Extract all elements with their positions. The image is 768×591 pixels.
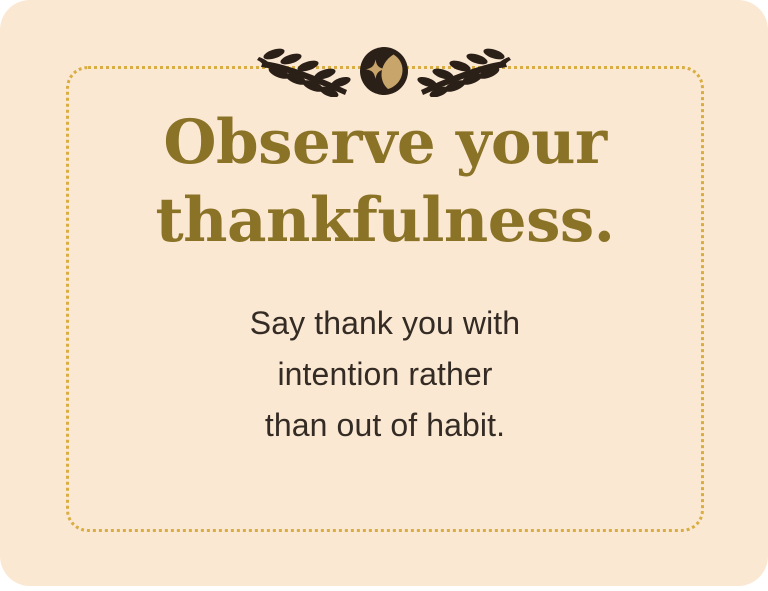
body-text: Say thank you with intention rather than… [66, 298, 704, 451]
card-content: Observe your thankfulness. Say thank you… [66, 104, 704, 451]
body-line-2: intention rather [66, 349, 704, 400]
ornament-divider [0, 40, 768, 102]
crescent-moon-icon [359, 46, 409, 96]
body-line-1: Say thank you with [66, 298, 704, 349]
page-title: Observe your thankfulness. [66, 104, 704, 260]
headline-line-1: Observe your [66, 104, 704, 182]
laurel-branch-right-icon [415, 45, 511, 97]
laurel-branch-left-icon [257, 45, 353, 97]
headline-line-2: thankfulness. [66, 182, 704, 260]
quote-card: Observe your thankfulness. Say thank you… [0, 0, 768, 586]
body-line-3: than out of habit. [66, 400, 704, 451]
